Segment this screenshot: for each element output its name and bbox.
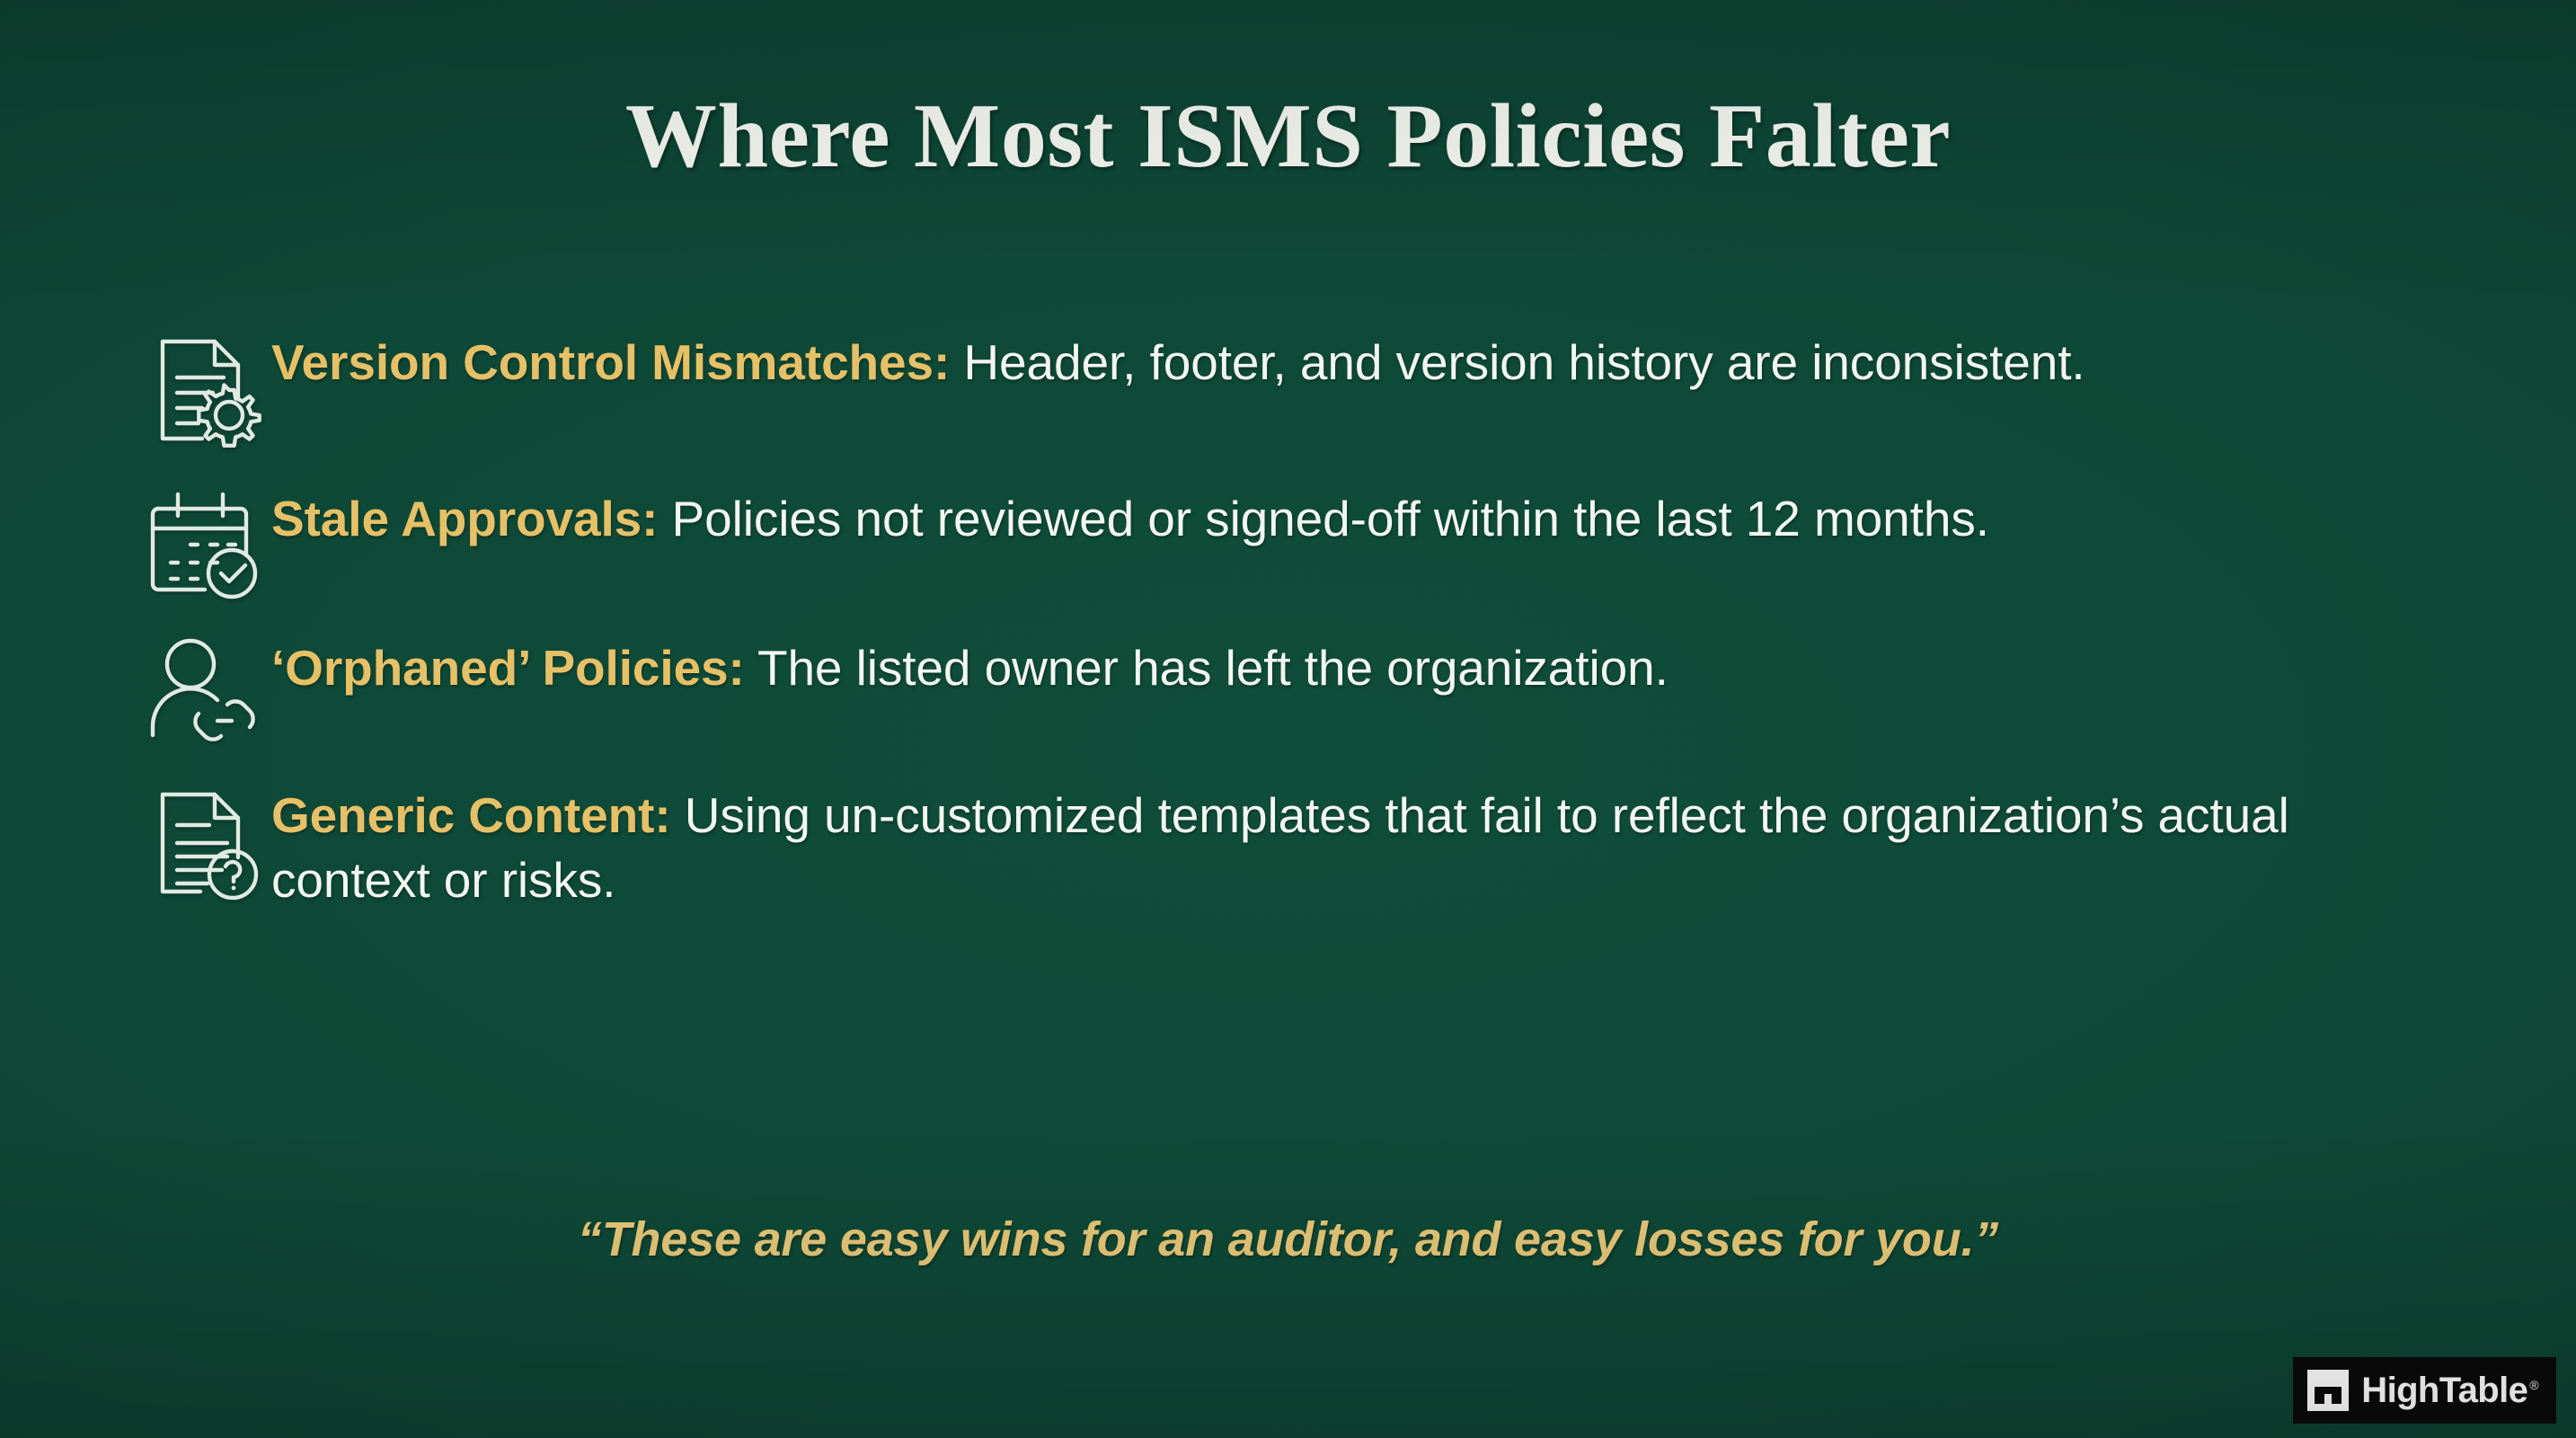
list-item-lead: Generic Content:: [271, 787, 671, 843]
list-item: Stale Approvals: Policies not reviewed o…: [137, 480, 2473, 615]
list-item: Generic Content: Using un-customized tem…: [137, 777, 2473, 912]
list-item-body: Policies not reviewed or signed-off with…: [658, 491, 1989, 546]
bullet-list: Version Control Mismatches: Header, foot…: [137, 324, 2473, 912]
logo-name: HighTable: [2361, 1371, 2527, 1410]
list-item: ‘Orphaned’ Policies: The listed owner ha…: [137, 629, 2473, 764]
registered-mark: ®: [2529, 1378, 2538, 1392]
pull-quote: “These are easy wins for an auditor, and…: [0, 1212, 2576, 1267]
list-item-body: Header, footer, and version history are …: [950, 334, 2085, 390]
list-item-text: ‘Orphaned’ Policies: The listed owner ha…: [271, 629, 2365, 701]
person-link-icon: [137, 629, 271, 764]
hightable-square-icon: [2307, 1370, 2349, 1411]
list-item-lead: Version Control Mismatches:: [271, 334, 950, 390]
page-title: Where Most ISMS Policies Falter: [0, 88, 2576, 185]
list-item-text: Generic Content: Using un-customized tem…: [271, 777, 2365, 912]
hightable-logo: HighTable®: [2293, 1357, 2556, 1424]
list-item-lead: ‘Orphaned’ Policies:: [271, 640, 745, 696]
list-item: Version Control Mismatches: Header, foot…: [137, 324, 2473, 458]
list-item-text: Version Control Mismatches: Header, foot…: [271, 324, 2365, 395]
list-item-text: Stale Approvals: Policies not reviewed o…: [271, 480, 2365, 552]
document-question-icon: [137, 777, 271, 911]
calendar-check-icon: [137, 480, 271, 615]
document-gear-icon: [137, 324, 271, 458]
slide-canvas: Where Most ISMS Policies Falter Version …: [0, 0, 2576, 1438]
list-item-lead: Stale Approvals:: [271, 491, 658, 546]
list-item-body: The listed owner has left the organizati…: [745, 640, 1669, 696]
hightable-wordmark: HighTable®: [2361, 1372, 2538, 1408]
